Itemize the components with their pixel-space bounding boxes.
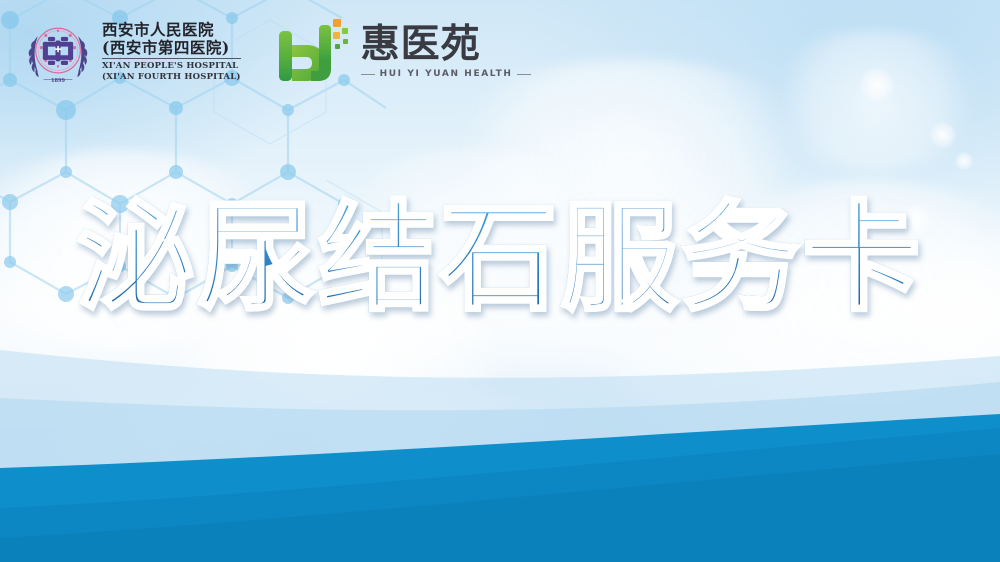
hospital-name-block: 西安市人民医院 (西安市第四医院) XI'AN PEOPLE'S HOSPITA… xyxy=(102,22,241,81)
hospital-logo: 1899 西安市人民医院 (西安市第四医院) XI'AN PEOPLE'S HO… xyxy=(22,16,241,88)
partner-name-en-row: HUI YI YUAN HEALTH xyxy=(361,69,532,79)
rule-right xyxy=(517,74,531,75)
hospital-name-cn-secondary: (西安市第四医院) xyxy=(102,40,241,56)
partner-name-en: HUI YI YUAN HEALTH xyxy=(380,69,513,79)
hospital-name-en-primary: XI'AN PEOPLE'S HOSPITAL xyxy=(102,61,241,71)
partner-name-cn: 惠医苑 xyxy=(361,25,532,64)
partner-logo: 惠医苑 HUI YI YUAN HEALTH xyxy=(277,19,532,85)
header-logo-bar: 1899 西安市人民医院 (西安市第四医院) XI'AN PEOPLE'S HO… xyxy=(0,0,1000,104)
hospital-emblem-icon: 1899 xyxy=(22,16,94,88)
emblem-year: 1899 xyxy=(51,78,66,84)
rule-left xyxy=(361,74,375,75)
partner-name-block: 惠医苑 HUI YI YUAN HEALTH xyxy=(361,25,532,79)
hospital-name-cn-primary: 西安市人民医院 xyxy=(102,22,241,38)
hospital-name-en-secondary: (XI'AN FOURTH HOSPITAL) xyxy=(102,72,241,82)
hui-yi-yuan-monogram-icon xyxy=(277,19,351,85)
hospital-name-en-block: XI'AN PEOPLE'S HOSPITAL (XI'AN FOURTH HO… xyxy=(102,58,241,81)
poster-canvas: 1899 西安市人民医院 (西安市第四医院) XI'AN PEOPLE'S HO… xyxy=(0,0,1000,562)
